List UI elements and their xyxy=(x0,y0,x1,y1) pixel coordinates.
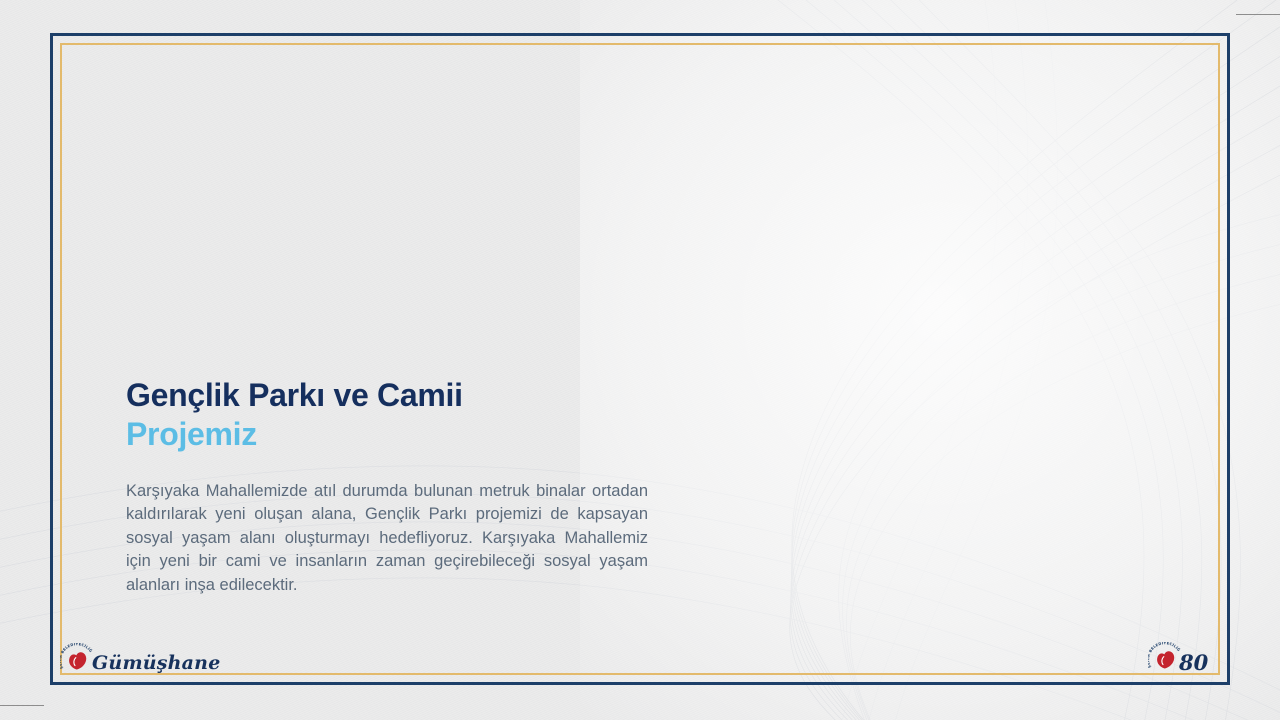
anniversary-number: 80 xyxy=(1179,652,1208,674)
body-paragraph: Karşıyaka Mahallemizde atıl durumda bulu… xyxy=(126,480,648,597)
tulip-icon: ŞEHİR BELEDİYECİLİĞİ xyxy=(1148,642,1182,674)
page-title-secondary: Projemiz xyxy=(126,415,650,454)
crop-tick-bottom-left xyxy=(0,705,44,706)
slide-content: Gençlik Parkı ve Camii Projemiz Karşıyak… xyxy=(126,376,650,597)
crop-tick-top-right xyxy=(1236,14,1280,15)
logo-gumushane: ŞEHİR BELEDİYECİLİĞİ Gümüşhane xyxy=(60,641,220,675)
page-title-primary: Gençlik Parkı ve Camii xyxy=(126,376,650,415)
tulip-icon: ŞEHİR BELEDİYECİLİĞİ xyxy=(60,643,94,675)
logo-anniversary: ŞEHİR BELEDİYECİLİĞİ 80 xyxy=(1148,638,1208,674)
logo-wordmark: Gümüşhane xyxy=(92,654,220,675)
presentation-slide: Gençlik Parkı ve Camii Projemiz Karşıyak… xyxy=(0,0,1280,720)
